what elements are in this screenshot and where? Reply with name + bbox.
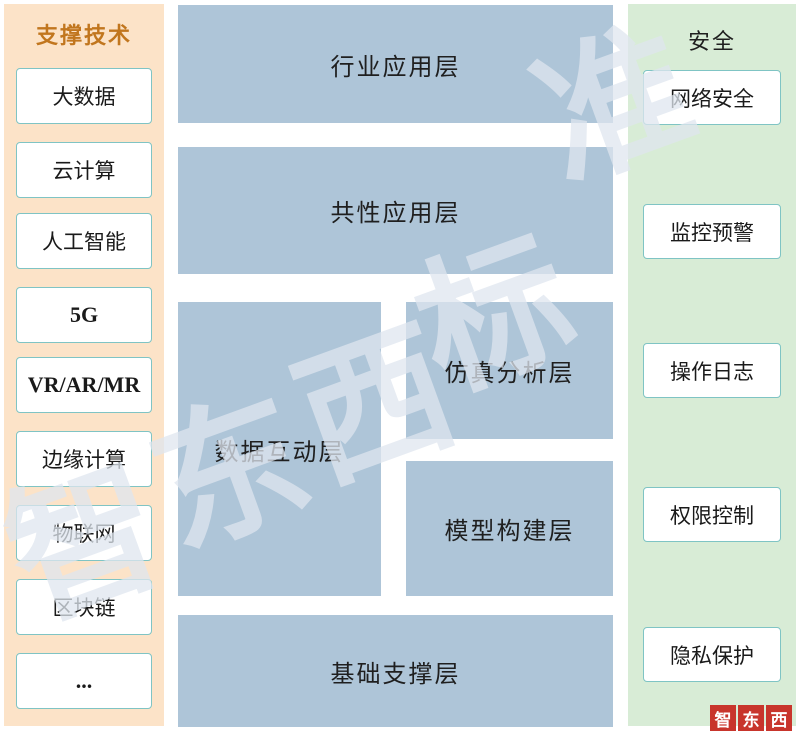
tech-card-1[interactable]: 大数据 — [16, 68, 152, 124]
security-card-5[interactable]: 隐私保护 — [643, 627, 781, 682]
security-title: 安全 — [628, 24, 796, 56]
logo-char-2: 东 — [738, 705, 764, 731]
security-card-2[interactable]: 监控预警 — [643, 204, 781, 259]
tech-card-label: 区块链 — [53, 592, 116, 622]
layer-label: 行业应用层 — [331, 47, 461, 82]
layer-box-3[interactable]: 数据互动层 — [178, 302, 381, 596]
layer-label: 数据互动层 — [215, 432, 345, 467]
security-card-label: 监控预警 — [670, 217, 754, 247]
layer-label: 共性应用层 — [331, 193, 461, 228]
tech-card-label: 5G — [70, 302, 98, 328]
tech-card-label: 物联网 — [53, 518, 116, 548]
logo-char-3: 西 — [766, 705, 792, 731]
layer-label: 基础支撑层 — [331, 654, 461, 689]
layer-label: 模型构建层 — [445, 511, 575, 546]
security-card-label: 操作日志 — [670, 356, 754, 386]
tech-card-label: 大数据 — [53, 81, 116, 111]
security-panel: 安全 网络安全监控预警操作日志权限控制隐私保护 — [628, 4, 796, 726]
tech-card-3[interactable]: 人工智能 — [16, 213, 152, 269]
diagram-canvas: 智东西标准 支撑技术 大数据云计算人工智能5GVR/AR/MR边缘计算物联网区块… — [0, 0, 800, 739]
tech-card-label: ... — [76, 668, 93, 694]
tech-card-4[interactable]: 5G — [16, 287, 152, 343]
layer-box-5[interactable]: 模型构建层 — [406, 461, 613, 596]
security-card-3[interactable]: 操作日志 — [643, 343, 781, 398]
security-card-label: 隐私保护 — [670, 640, 754, 670]
tech-card-6[interactable]: 边缘计算 — [16, 431, 152, 487]
supporting-technology-panel: 支撑技术 大数据云计算人工智能5GVR/AR/MR边缘计算物联网区块链... — [4, 4, 164, 726]
layer-box-2[interactable]: 共性应用层 — [178, 147, 613, 274]
supporting-technology-title: 支撑技术 — [4, 18, 164, 50]
security-card-1[interactable]: 网络安全 — [643, 70, 781, 125]
security-card-label: 网络安全 — [670, 83, 754, 113]
security-card-label: 权限控制 — [670, 500, 754, 530]
security-card-4[interactable]: 权限控制 — [643, 487, 781, 542]
layer-box-4[interactable]: 仿真分析层 — [406, 302, 613, 439]
tech-card-7[interactable]: 物联网 — [16, 505, 152, 561]
zhidongxi-logo: 智东西 — [708, 705, 792, 731]
architecture-layers: 行业应用层共性应用层数据互动层仿真分析层模型构建层基础支撑层 — [178, 0, 613, 739]
layer-box-6[interactable]: 基础支撑层 — [178, 615, 613, 727]
tech-card-9[interactable]: ... — [16, 653, 152, 709]
tech-card-5[interactable]: VR/AR/MR — [16, 357, 152, 413]
logo-char-1: 智 — [710, 705, 736, 731]
tech-card-label: 云计算 — [53, 155, 116, 185]
layer-label: 仿真分析层 — [445, 353, 575, 388]
tech-card-label: VR/AR/MR — [28, 372, 140, 398]
tech-card-8[interactable]: 区块链 — [16, 579, 152, 635]
layer-box-1[interactable]: 行业应用层 — [178, 5, 613, 123]
tech-card-label: 人工智能 — [42, 226, 126, 256]
tech-card-label: 边缘计算 — [42, 444, 126, 474]
tech-card-2[interactable]: 云计算 — [16, 142, 152, 198]
